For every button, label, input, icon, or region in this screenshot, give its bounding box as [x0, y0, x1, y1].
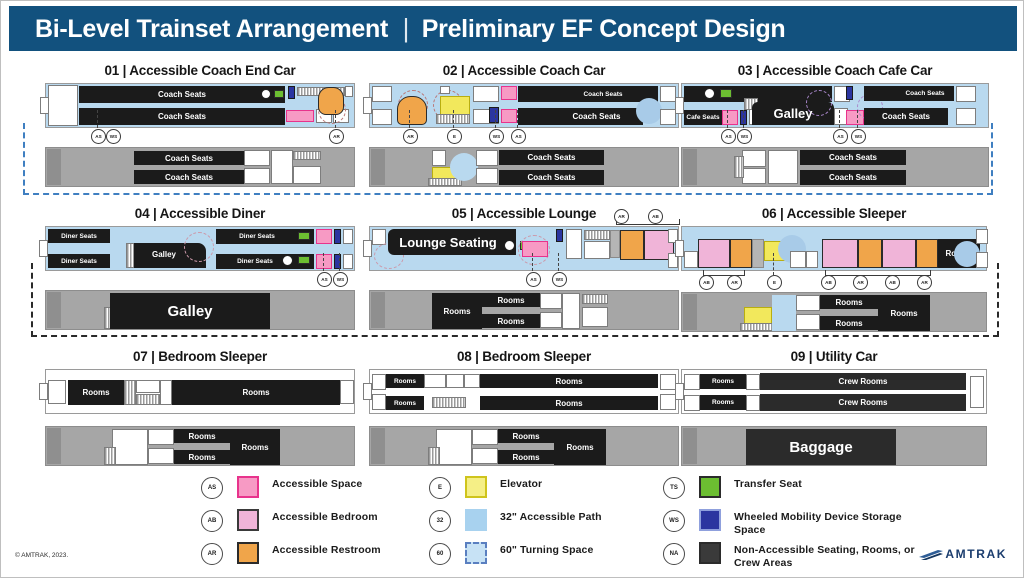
- accessible-bedroom: [882, 239, 916, 268]
- accessible-restroom: [916, 239, 938, 268]
- tag-ws[interactable]: WS: [106, 129, 121, 144]
- legend-tag-ws: WS: [663, 510, 685, 532]
- car-title-07: 07 | Bedroom Sleeper: [45, 349, 355, 364]
- mobility-storage: [288, 86, 295, 99]
- car-title-03: 03 | Accessible Coach Cafe Car: [681, 63, 989, 78]
- car-03-lower-deck: Coach Seats Coach Seats: [681, 147, 989, 187]
- seating-block: Coach Seats: [518, 86, 658, 102]
- fixture: [432, 150, 446, 166]
- restroom: [540, 293, 562, 309]
- tag-ws[interactable]: WS: [489, 129, 504, 144]
- restroom: [148, 448, 174, 464]
- fixture: [136, 380, 160, 393]
- seating-block: Diner Seats: [48, 254, 110, 268]
- car-01-upper-label-2: Coach Seats: [79, 108, 285, 125]
- mobility-storage: [334, 229, 341, 244]
- coupler: [363, 97, 372, 114]
- rooms-block: Rooms: [498, 429, 554, 443]
- car-02-lower-deck: Coach Seats Coach Seats: [369, 147, 679, 187]
- accessible-restroom: [620, 230, 644, 260]
- car-08-lower-deck: Rooms Rooms Rooms: [369, 426, 679, 466]
- rooms-block: Rooms: [878, 295, 930, 331]
- car-block-07[interactable]: 07 | Bedroom Sleeper Rooms Rooms Room: [45, 349, 355, 466]
- stairs: [582, 294, 608, 304]
- legend-label-elevator: Elevator: [500, 475, 542, 491]
- car-03-lower-label-1: Coach Seats: [800, 150, 906, 165]
- legend-tag-as: AS: [201, 477, 223, 499]
- baggage-block: Baggage: [746, 429, 896, 465]
- accessible-bedroom: [698, 239, 730, 268]
- vestibule: [48, 380, 66, 404]
- coupler: [363, 383, 372, 400]
- restroom: [684, 395, 700, 411]
- vestibule: [372, 86, 392, 102]
- deck-end: [371, 292, 385, 328]
- stairs: [740, 323, 774, 331]
- car-04-upper-label-2: Diner Seats: [216, 229, 298, 244]
- vestibule: [343, 254, 353, 269]
- vestibule: [372, 109, 392, 125]
- deck-end: [371, 149, 385, 185]
- rooms-block: Rooms: [482, 293, 540, 307]
- seating-block: Coach Seats: [864, 108, 948, 125]
- car-09-tag-row: [681, 414, 987, 420]
- fixture: [440, 86, 450, 94]
- tag-ar[interactable]: AR: [917, 275, 932, 290]
- tag-ar[interactable]: AR: [329, 129, 344, 144]
- rooms-block: Rooms: [482, 314, 540, 328]
- car-block-02[interactable]: 02 | Accessible Coach Car Coach Seats C: [369, 63, 679, 187]
- rooms-block: Rooms: [700, 395, 746, 410]
- vestibule: [660, 374, 676, 390]
- vestibule: [48, 85, 78, 126]
- car-block-04[interactable]: 04 | Accessible Diner Diner Seats Diner …: [45, 206, 355, 330]
- rooms-block: Rooms: [700, 374, 746, 389]
- rooms-block: Rooms: [172, 380, 340, 405]
- fixture: [473, 86, 499, 102]
- seating-block: Coach Seats: [864, 86, 954, 101]
- transfer-seat-swatch: [720, 89, 732, 98]
- legend-item-accessible-restroom[interactable]: AR Accessible Restroom: [201, 541, 431, 571]
- tag-ar[interactable]: AR: [403, 129, 418, 144]
- car-block-05[interactable]: 05 | Accessible Lounge Lounge Seating AR…: [369, 206, 679, 330]
- title-main: Bi-Level Trainset Arrangement: [35, 15, 388, 43]
- car-01-lower-deck: Coach Seats Coach Seats: [45, 147, 355, 187]
- car-09-upper-label-3: Rooms: [700, 395, 746, 410]
- car-04-upper-deck: Diner Seats Diner Seats Galley Diner Sea…: [45, 226, 355, 271]
- fixture: [610, 230, 620, 258]
- car-05-lower-label-2: Rooms: [482, 314, 540, 328]
- deck-end: [683, 149, 697, 185]
- car-07-lower-deck: Rooms Rooms Rooms: [45, 426, 355, 466]
- restroom: [472, 448, 498, 464]
- vestibule: [976, 252, 988, 268]
- car-title-06: 06 | Accessible Sleeper: [681, 206, 987, 221]
- tag-e[interactable]: E: [767, 275, 782, 290]
- fixture: [584, 241, 610, 259]
- transfer-seat-icon: [704, 88, 715, 99]
- corridor: [160, 380, 172, 405]
- car-02-tag-row: AR E WS AS: [369, 128, 679, 144]
- vestibule: [343, 229, 353, 244]
- legend-item-transfer-seat[interactable]: TS Transfer Seat: [663, 475, 933, 505]
- legend-label-non-accessible: Non-Accessible Seating, Rooms, or Crew A…: [734, 541, 933, 569]
- fixture: [746, 395, 760, 411]
- car-01-upper-label-1: Coach Seats: [79, 86, 285, 103]
- legend-tag-32: 32: [429, 510, 451, 532]
- fixture: [424, 374, 446, 388]
- stairs: [136, 394, 160, 405]
- corridor: [562, 293, 580, 329]
- legend-item-accessible-bedroom[interactable]: AB Accessible Bedroom: [201, 508, 431, 538]
- car-07-lower-label-3: Rooms: [230, 429, 280, 465]
- tag-ab[interactable]: AB: [821, 275, 836, 290]
- fixture: [582, 307, 608, 327]
- accessible-space: [316, 254, 332, 269]
- stairs: [584, 230, 610, 240]
- restroom: [476, 150, 498, 166]
- restroom: [446, 374, 464, 388]
- car-05-lower-deck: Rooms Rooms Rooms: [369, 290, 679, 330]
- turning-space: [184, 232, 214, 262]
- legend-swatch-transfer-seat: [699, 476, 721, 498]
- fixture: [293, 166, 321, 184]
- tag-as[interactable]: AS: [526, 272, 541, 287]
- vestibule: [372, 374, 386, 390]
- tag-ws[interactable]: WS: [552, 272, 567, 287]
- car-05-lower-label-1: Rooms: [482, 293, 540, 307]
- transfer-seat-icon: [282, 255, 293, 266]
- legend-tag-ts: TS: [663, 477, 685, 499]
- accessible-restroom: [318, 87, 344, 115]
- fixture: [464, 374, 480, 388]
- legend-column-2: E Elevator 32 32" Accessible Path 60 60"…: [429, 475, 649, 574]
- legend-swatch-turning-space: [465, 542, 487, 564]
- stairs: [293, 151, 321, 160]
- accessible-restroom: [730, 239, 752, 268]
- elevator: [440, 96, 470, 116]
- legend-label-mobility-storage: Wheeled Mobility Device Storage Space: [734, 508, 933, 536]
- fixture: [566, 229, 582, 259]
- seating-block: Coach Seats: [800, 170, 906, 185]
- tag-as[interactable]: AS: [721, 129, 736, 144]
- vestibule: [660, 109, 676, 125]
- legend-label-transfer-seat: Transfer Seat: [734, 475, 802, 491]
- car-09-upper-label-1: Rooms: [700, 374, 746, 389]
- car-block-06[interactable]: 06 | Accessible Sleeper Rooms AB: [681, 206, 987, 332]
- car-09-lower-label-1: Baggage: [746, 429, 896, 465]
- car-01-lower-label-1: Coach Seats: [134, 151, 244, 165]
- seating-block: Cafe Seats: [684, 110, 722, 125]
- car-07-upper-deck: Rooms Rooms: [45, 369, 355, 414]
- car-07-tag-row: [45, 414, 355, 420]
- tag-as[interactable]: AS: [317, 272, 332, 287]
- car-08-lower-label-2: Rooms: [498, 450, 554, 464]
- fixture: [752, 239, 764, 268]
- vestibule: [372, 394, 386, 410]
- legend-item-elevator[interactable]: E Elevator: [429, 475, 649, 505]
- car-04-lower-deck: Galley: [45, 290, 355, 330]
- car-06-tag-row: AB AR E AB AR AB AR: [681, 271, 987, 287]
- deck-end: [47, 149, 61, 185]
- accessible-path: [772, 295, 796, 331]
- accessible-space: [316, 229, 332, 244]
- tag-e[interactable]: E: [447, 129, 462, 144]
- tag-ar[interactable]: AR: [614, 209, 629, 224]
- legend-tag-e: E: [429, 477, 451, 499]
- car-06-lower-label-2: Rooms: [820, 316, 878, 330]
- vestibule: [660, 394, 676, 410]
- vestibule: [956, 86, 976, 102]
- car-05-upper-deck: Lounge Seating AR AB: [369, 226, 679, 271]
- car-04-lower-label-1: Galley: [110, 293, 270, 329]
- rooms-block: Rooms: [498, 450, 554, 464]
- car-title-01: 01 | Accessible Coach End Car: [45, 63, 355, 78]
- car-block-09[interactable]: 09 | Utility Car Rooms Rooms Crew Rooms …: [681, 349, 987, 466]
- car-08-upper-label-4: Rooms: [480, 396, 658, 410]
- fixture: [796, 314, 820, 330]
- stairs: [428, 447, 440, 465]
- galley-block: Galley: [110, 293, 270, 329]
- mobility-storage: [846, 86, 853, 100]
- car-block-08[interactable]: 08 | Bedroom Sleeper Rooms Rooms Rooms R…: [369, 349, 679, 466]
- legend-swatch-accessible-restroom: [237, 542, 259, 564]
- seating-block: Coach Seats: [518, 108, 643, 125]
- car-04-upper-label-4: Diner Seats: [48, 254, 110, 268]
- car-07-upper-label-1: Rooms: [68, 380, 124, 405]
- car-02-lower-label-2: Coach Seats: [499, 170, 604, 185]
- legend-column-1: AS Accessible Space AB Accessible Bedroo…: [201, 475, 431, 574]
- rooms-block: Rooms: [432, 293, 482, 329]
- mobility-storage: [556, 229, 563, 242]
- legend-item-accessible-space[interactable]: AS Accessible Space: [201, 475, 431, 505]
- fixture: [746, 374, 760, 390]
- crew-rooms-block: Crew Rooms: [760, 394, 966, 411]
- vestibule: [684, 251, 698, 268]
- restroom: [244, 150, 270, 166]
- legend-swatch-accessible-bedroom: [237, 509, 259, 531]
- tag-ab[interactable]: AB: [885, 275, 900, 290]
- car-09-lower-deck: Baggage: [681, 426, 987, 466]
- fixture: [345, 86, 353, 97]
- car-block-03[interactable]: 03 | Accessible Coach Cafe Car Cafe Seat…: [681, 63, 989, 187]
- seating-block: Coach Seats: [134, 151, 244, 165]
- legend-swatch-non-accessible: [699, 542, 721, 564]
- vestibule: [976, 229, 988, 244]
- car-09-upper-label-2: Crew Rooms: [760, 373, 966, 390]
- car-06-lower-label-3: Rooms: [878, 295, 930, 331]
- seating-block: Coach Seats: [79, 86, 285, 103]
- stairs: [124, 380, 136, 405]
- car-title-08: 08 | Bedroom Sleeper: [369, 349, 679, 364]
- accessible-space: [286, 110, 314, 122]
- turning-space: [636, 98, 662, 124]
- deck-end: [47, 428, 61, 464]
- legend-item-non-accessible[interactable]: NA Non-Accessible Seating, Rooms, or Cre…: [663, 541, 933, 571]
- legend-item-turning-space[interactable]: 60 60" Turning Space: [429, 541, 649, 571]
- car-03-upper-label-3: Coach Seats: [896, 86, 954, 101]
- car-01-upper-deck: Coach Seats Coach Seats: [45, 83, 355, 128]
- amtrak-swoosh-icon: [918, 548, 944, 560]
- legend-label-accessible-bedroom: Accessible Bedroom: [272, 508, 378, 524]
- car-06-lower-label-1: Rooms: [820, 295, 878, 309]
- corridor: [271, 150, 293, 184]
- amtrak-wordmark: AMTRAK: [945, 547, 1007, 561]
- legend-swatch-accessible-space: [237, 476, 259, 498]
- restroom: [148, 429, 174, 445]
- corridor: [768, 150, 798, 184]
- title-separator: |: [395, 13, 415, 43]
- car-03-upper-label-1: Cafe Seats: [684, 110, 722, 125]
- stairs: [104, 447, 116, 465]
- tag-as[interactable]: AS: [511, 129, 526, 144]
- vestibule: [970, 376, 984, 408]
- rooms-block: Rooms: [174, 450, 230, 464]
- vestibule: [956, 108, 976, 125]
- fixture: [790, 251, 806, 268]
- transfer-seat-swatch: [298, 256, 310, 264]
- slide-header-bar: Bi-Level Trainset Arrangement | Prelimin…: [9, 6, 1017, 51]
- accessible-restroom: [397, 96, 427, 125]
- seating-block: Coach Seats: [800, 150, 906, 165]
- amtrak-logo: AMTRAK: [918, 547, 1007, 561]
- coupler: [40, 97, 49, 114]
- tag-ab[interactable]: AB: [648, 209, 663, 224]
- tag-ar[interactable]: AR: [727, 275, 742, 290]
- transfer-seat-icon: [504, 240, 515, 251]
- restroom: [244, 168, 270, 184]
- tag-ws[interactable]: WS: [333, 272, 348, 287]
- turning-space: [450, 153, 478, 181]
- mobility-storage: [489, 107, 499, 123]
- rooms-block: Rooms: [820, 295, 878, 309]
- rooms-block: Rooms: [230, 429, 280, 465]
- rooms-block: Rooms: [554, 429, 606, 465]
- vestibule: [684, 374, 700, 390]
- legend-label-accessible-space: Accessible Space: [272, 475, 362, 491]
- car-09-upper-deck: Rooms Rooms Crew Rooms Crew Rooms: [681, 369, 987, 414]
- car-08-lower-label-1: Rooms: [498, 429, 554, 443]
- rooms-block: Rooms: [386, 396, 424, 410]
- legend-item-mobility-storage[interactable]: WS Wheeled Mobility Device Storage Space: [663, 508, 933, 538]
- copyright-notice: © AMTRAK, 2023.: [15, 552, 68, 559]
- legend-item-accessible-path[interactable]: 32 32" Accessible Path: [429, 508, 649, 538]
- car-02-upper-label-2: Coach Seats: [550, 108, 643, 125]
- restroom: [472, 429, 498, 445]
- car-08-tag-row: [369, 414, 679, 420]
- accessible-space: [522, 241, 548, 257]
- legend-column-3: TS Transfer Seat WS Wheeled Mobility Dev…: [663, 475, 933, 574]
- legend-tag-ar: AR: [201, 543, 223, 565]
- car-02-upper-deck: Coach Seats Coach Seats: [369, 83, 679, 128]
- car-07-upper-label-2: Rooms: [172, 380, 340, 405]
- car-08-upper-label-2: Rooms: [480, 374, 658, 388]
- stairs: [734, 156, 744, 178]
- fixture: [436, 429, 472, 465]
- car-08-upper-label-3: Rooms: [386, 396, 424, 410]
- turning-space: [806, 90, 832, 116]
- seating-block: Coach Seats: [134, 170, 244, 184]
- transfer-seat-swatch: [298, 232, 310, 240]
- rooms-block: Rooms: [68, 380, 124, 405]
- car-03-lower-label-2: Coach Seats: [800, 170, 906, 185]
- car-06-upper-deck: Rooms: [681, 226, 987, 271]
- fixture: [796, 295, 820, 311]
- car-title-09: 09 | Utility Car: [681, 349, 987, 364]
- car-04-upper-label-1: Diner Seats: [48, 229, 110, 243]
- legend-label-turning-space: 60" Turning Space: [500, 541, 593, 557]
- fixture: [742, 150, 766, 167]
- deck-end: [683, 294, 697, 330]
- car-05-upper-label-1: Lounge Seating: [388, 229, 508, 255]
- car-09-upper-label-4: Crew Rooms: [760, 394, 966, 411]
- car-02-lower-label-1: Coach Seats: [499, 150, 604, 165]
- deck-end: [47, 292, 61, 328]
- coupler: [675, 97, 684, 114]
- car-block-01[interactable]: 01 | Accessible Coach End Car Coach Seat…: [45, 63, 355, 187]
- car-01-tag-row: AS WS AR: [45, 128, 355, 144]
- car-06-lower-deck: Rooms Rooms Rooms: [681, 292, 987, 332]
- legend-tag-na: NA: [663, 543, 685, 565]
- car-05-lower-label-3: Rooms: [432, 293, 482, 329]
- title-sub: Preliminary EF Concept Design: [422, 15, 786, 43]
- coupler: [363, 240, 372, 257]
- restroom: [476, 168, 498, 184]
- accessible-restroom: [858, 239, 882, 268]
- car-03-upper-label-4: Coach Seats: [864, 108, 948, 125]
- coupler: [675, 383, 684, 400]
- page-title: Bi-Level Trainset Arrangement | Prelimin…: [9, 13, 785, 44]
- car-07-lower-label-1: Rooms: [174, 429, 230, 443]
- deck-end: [683, 428, 697, 464]
- seating-block: Coach Seats: [79, 108, 285, 125]
- rooms-block: Rooms: [480, 374, 658, 388]
- car-04-tag-row: AS WS: [45, 271, 355, 287]
- legend-tag-ab: AB: [201, 510, 223, 532]
- deck-end: [371, 428, 385, 464]
- crew-rooms-block: Crew Rooms: [760, 373, 966, 390]
- vestibule: [340, 380, 354, 404]
- car-05-tag-row: AS WS: [369, 271, 679, 287]
- car-08-lower-label-3: Rooms: [554, 429, 606, 465]
- accessible-space: [501, 86, 517, 100]
- car-08-upper-deck: Rooms Rooms Rooms Rooms: [369, 369, 679, 414]
- tag-as[interactable]: AS: [833, 129, 848, 144]
- coupler: [39, 383, 48, 400]
- car-01-lower-label-2: Coach Seats: [134, 170, 244, 184]
- tag-as[interactable]: AS: [91, 129, 106, 144]
- tag-ws[interactable]: WS: [737, 129, 752, 144]
- tag-ar[interactable]: AR: [853, 275, 868, 290]
- tag-ws[interactable]: WS: [851, 129, 866, 144]
- restroom: [540, 312, 562, 328]
- tag-ab[interactable]: AB: [699, 275, 714, 290]
- fixture: [742, 168, 766, 184]
- legend-swatch-mobility-storage: [699, 509, 721, 531]
- legend: AS Accessible Space AB Accessible Bedroo…: [15, 475, 1011, 571]
- rooms-block: Rooms: [820, 316, 878, 330]
- legend-swatch-accessible-path: [465, 509, 487, 531]
- rooms-block: Rooms: [174, 429, 230, 443]
- legend-label-accessible-path: 32" Accessible Path: [500, 508, 602, 524]
- transfer-seat-icon: [261, 89, 271, 99]
- car-title-04: 04 | Accessible Diner: [45, 206, 355, 221]
- seating-block: Lounge Seating: [388, 229, 516, 255]
- seating-block: Diner Seats: [48, 229, 110, 243]
- legend-swatch-elevator: [465, 476, 487, 498]
- coupler: [675, 240, 684, 257]
- car-07-lower-label-2: Rooms: [174, 450, 230, 464]
